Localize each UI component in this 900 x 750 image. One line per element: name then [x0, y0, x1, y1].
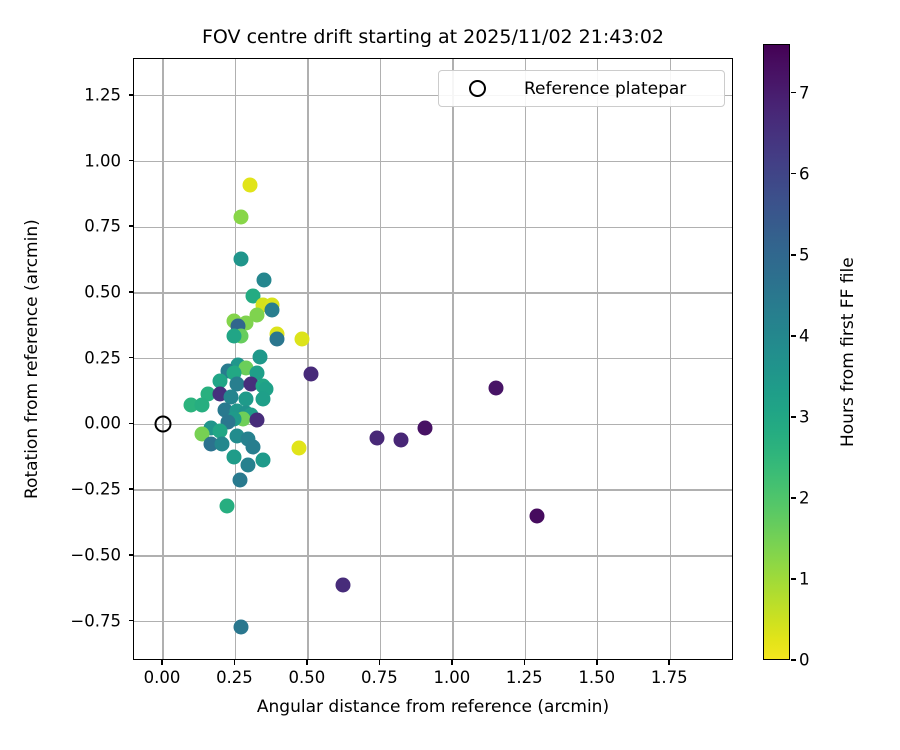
colorbar[interactable] [763, 44, 790, 660]
scatter-point [242, 178, 257, 193]
y-axis-tick-label: 0.00 [84, 414, 121, 433]
y-axis-tick [129, 160, 134, 162]
gridline-horizontal [134, 227, 732, 228]
colorbar-tick [791, 578, 796, 580]
colorbar-tick-label: 3 [799, 407, 810, 426]
y-axis-tick-label: −0.50 [70, 545, 121, 564]
scatter-point [418, 421, 433, 436]
legend-label-reference-platepar: Reference platepar [524, 79, 686, 99]
y-axis-tick-label: 0.50 [84, 282, 121, 301]
colorbar-tick-label: 1 [799, 569, 810, 588]
colorbar-tick [791, 335, 796, 337]
x-axis-tick [668, 660, 670, 665]
scatter-point [257, 272, 272, 287]
scatter-point [370, 430, 385, 445]
gridline-horizontal [134, 292, 732, 293]
page-title: FOV centre drift starting at 2025/11/02 … [133, 26, 733, 48]
scatter-point [250, 413, 265, 428]
scatter-point [253, 350, 268, 365]
gridline-horizontal [134, 555, 732, 556]
scatter-point [241, 458, 256, 473]
colorbar-tick [791, 92, 796, 94]
colorbar-tick-label: 7 [799, 83, 810, 102]
scatter-point [232, 472, 247, 487]
x-axis-tick-label: 1.00 [433, 668, 470, 687]
legend-open-circle-icon [469, 80, 486, 97]
scatter-point [393, 433, 408, 448]
colorbar-gradient [764, 45, 789, 659]
scatter-plot-figure: FOV centre drift starting at 2025/11/02 … [0, 0, 900, 750]
scatter-point [234, 209, 249, 224]
x-axis-tick-label: 0.25 [216, 668, 253, 687]
y-axis-tick-label: 1.25 [84, 85, 121, 104]
colorbar-tick-label: 0 [799, 651, 810, 670]
colorbar-label: Hours from first FF file [838, 257, 858, 447]
colorbar-tick [791, 497, 796, 499]
x-axis-tick-label: 0.00 [144, 668, 181, 687]
x-axis-tick-label: 1.75 [651, 668, 688, 687]
y-axis-tick [129, 620, 134, 622]
scatter-point [303, 367, 318, 382]
scatter-point [255, 392, 270, 407]
scatter-point [245, 439, 260, 454]
x-axis-tick [451, 660, 453, 665]
scatter-point [234, 251, 249, 266]
scatter-point [219, 498, 234, 513]
colorbar-tick-label: 6 [799, 164, 810, 183]
y-axis-tick [129, 291, 134, 293]
y-axis-tick-label: −0.25 [70, 480, 121, 499]
colorbar-tick [791, 416, 796, 418]
y-axis-tick [129, 225, 134, 227]
y-axis-tick [129, 357, 134, 359]
scatter-point [264, 303, 279, 318]
colorbar-tick [791, 254, 796, 256]
colorbar-tick [791, 659, 796, 661]
gridline-horizontal [134, 621, 732, 622]
plot-axes-area[interactable] [133, 58, 733, 660]
scatter-point [234, 619, 249, 634]
x-axis-tick-label: 0.50 [289, 668, 326, 687]
x-axis-tick-label: 1.25 [506, 668, 543, 687]
scatter-point [489, 380, 504, 395]
gridline-horizontal [134, 489, 732, 490]
scatter-point [335, 577, 350, 592]
y-axis-tick [129, 423, 134, 425]
y-axis-tick-label: 1.00 [84, 151, 121, 170]
scatter-point [270, 331, 285, 346]
x-axis-label: Angular distance from reference (arcmin) [133, 697, 733, 717]
x-axis-tick-label: 1.50 [578, 668, 615, 687]
reference-platepar-marker [154, 416, 171, 433]
y-axis-tick [129, 94, 134, 96]
y-axis-tick [129, 554, 134, 556]
gridline-horizontal [134, 161, 732, 162]
x-axis-tick-label: 0.75 [361, 668, 398, 687]
legend[interactable]: Reference platepar [438, 70, 725, 107]
scatter-point [227, 329, 242, 344]
colorbar-tick [791, 173, 796, 175]
scatter-point [227, 450, 242, 465]
gridline-horizontal [134, 358, 732, 359]
y-axis-tick-label: 0.25 [84, 348, 121, 367]
colorbar-tick-label: 2 [799, 488, 810, 507]
x-axis-tick [596, 660, 598, 665]
scatter-point [529, 509, 544, 524]
x-axis-tick [379, 660, 381, 665]
y-axis-tick-label: −0.75 [70, 611, 121, 630]
x-axis-tick [524, 660, 526, 665]
scatter-point [292, 441, 307, 456]
scatter-point [215, 437, 230, 452]
scatter-point [295, 331, 310, 346]
scatter-point [255, 452, 270, 467]
x-axis-tick [161, 660, 163, 665]
y-axis-tick-label: 0.75 [84, 217, 121, 236]
colorbar-tick-label: 5 [799, 245, 810, 264]
colorbar-tick-label: 4 [799, 326, 810, 345]
x-axis-tick [234, 660, 236, 665]
x-axis-tick [306, 660, 308, 665]
y-axis-tick [129, 488, 134, 490]
scatter-point [195, 397, 210, 412]
y-axis-label: Rotation from reference (arcmin) [22, 219, 42, 499]
